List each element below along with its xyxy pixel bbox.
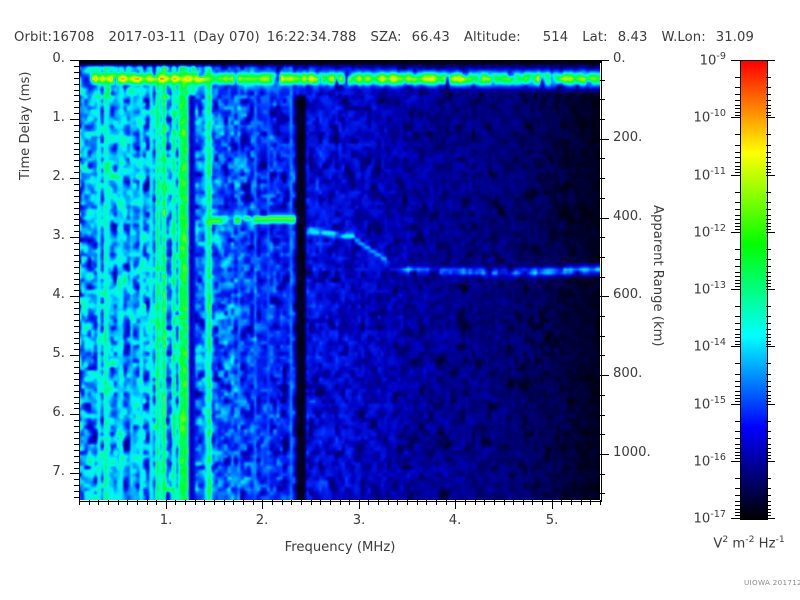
colorbar-minor-tick-right — [766, 323, 771, 324]
colorbar-minor-tick-right — [766, 363, 771, 364]
colorbar-major-tick — [731, 518, 740, 519]
colorbar-minor-tick — [735, 219, 740, 220]
x-minor-tick — [233, 500, 234, 505]
colorbar-minor-tick-right — [766, 334, 771, 335]
colorbar-minor-tick-right — [766, 509, 771, 510]
x-axis-title: Frequency (MHz) — [0, 540, 680, 555]
colorbar-minor-tick — [735, 501, 740, 502]
x-major-tick — [552, 500, 553, 509]
colorbar-minor-tick — [735, 286, 740, 287]
x-minor-tick — [590, 500, 591, 505]
y-right-minor-tick — [600, 415, 605, 416]
y-left-minor-tick — [74, 208, 79, 209]
x-minor-tick — [204, 500, 205, 505]
x-minor-tick — [581, 500, 582, 505]
colorbar-minor-tick — [735, 448, 740, 449]
x-minor-tick — [571, 500, 572, 505]
colorbar-minor-tick-right — [766, 316, 771, 317]
colorbar-tick-label-1: 10-10 — [0, 108, 726, 125]
x-minor-tick — [475, 500, 476, 505]
y-left-minor-tick — [74, 243, 79, 244]
y-left-minor-tick — [74, 196, 79, 197]
colorbar-minor-tick — [735, 452, 740, 453]
y-left-minor-tick — [74, 154, 79, 155]
colorbar-minor-tick — [735, 329, 740, 330]
colorbar-minor-tick — [735, 337, 740, 338]
colorbar-major-tick-right — [766, 60, 775, 61]
colorbar-tick-mantissa-4: 10 — [694, 282, 711, 297]
x-minor-tick — [368, 500, 369, 505]
x-minor-tick — [156, 500, 157, 505]
colorbar-minor-tick — [735, 488, 740, 489]
y-right-tick-label-2: 400. — [613, 209, 642, 224]
colorbar-minor-tick — [735, 386, 740, 387]
colorbar-major-tick-right — [766, 518, 775, 519]
y-left-minor-tick — [74, 444, 79, 445]
y-right-minor-tick — [600, 355, 605, 356]
y-left-minor-tick — [74, 131, 79, 132]
colorbar-unit-label: V2 m-2 Hz-1 — [694, 534, 800, 551]
x-major-tick — [359, 500, 360, 509]
x-minor-tick — [243, 500, 244, 505]
colorbar-minor-tick-right — [766, 209, 771, 210]
colorbar-minor-tick — [735, 374, 740, 375]
header-info-line: Orbit:167082017-03-11(Day 070)16:22:34.7… — [14, 30, 794, 48]
colorbar-minor-tick-right — [766, 398, 771, 399]
x-minor-tick — [388, 500, 389, 505]
colorbar-minor-tick — [735, 215, 740, 216]
colorbar-minor-tick — [735, 134, 740, 135]
colorbar-tick-mantissa-2: 10 — [694, 168, 711, 183]
colorbar-minor-tick — [735, 108, 740, 109]
colorbar-minor-tick-right — [766, 431, 771, 432]
y-right-minor-tick — [600, 198, 605, 199]
colorbar-minor-tick-right — [766, 444, 771, 445]
colorbar-minor-tick — [735, 162, 740, 163]
colorbar-major-tick — [731, 232, 740, 233]
colorbar-major-tick-right — [766, 289, 775, 290]
colorbar-minor-tick — [735, 458, 740, 459]
y-left-minor-tick — [74, 149, 79, 150]
colorbar-minor-tick — [735, 306, 740, 307]
y-right-minor-tick — [600, 434, 605, 435]
colorbar-minor-tick-right — [766, 249, 771, 250]
x-minor-tick — [272, 500, 273, 505]
colorbar-tick-exponent-7: -16 — [710, 452, 726, 463]
colorbar-minor-tick-right — [766, 286, 771, 287]
colorbar-major-tick-right — [766, 232, 775, 233]
x-minor-tick — [79, 500, 80, 505]
x-minor-tick — [349, 500, 350, 505]
x-major-tick — [455, 500, 456, 509]
x-minor-tick — [137, 500, 138, 505]
colorbar-minor-tick-right — [766, 157, 771, 158]
y-left-minor-tick — [74, 255, 79, 256]
colorbar-minor-tick — [735, 100, 740, 101]
colorbar-minor-tick-right — [766, 478, 771, 479]
colorbar-tick-mantissa-5: 10 — [694, 339, 711, 354]
colorbar-minor-tick-right — [766, 77, 771, 78]
colorbar-minor-tick — [735, 509, 740, 510]
colorbar-minor-tick — [735, 444, 740, 445]
y-right-minor-tick — [600, 257, 605, 258]
institution-credit: UIOWA 20171221 — [744, 578, 800, 587]
colorbar-major-tick-right — [766, 117, 775, 118]
y-left-minor-tick — [74, 367, 79, 368]
colorbar-minor-tick-right — [766, 266, 771, 267]
x-minor-tick — [494, 500, 495, 505]
colorbar-minor-tick-right — [766, 94, 771, 95]
x-minor-tick — [378, 500, 379, 505]
colorbar-minor-tick-right — [766, 202, 771, 203]
unit-m: m — [732, 536, 745, 551]
colorbar-minor-tick-right — [766, 172, 771, 173]
x-minor-tick — [175, 500, 176, 505]
y-left-major-tick — [70, 414, 79, 415]
colorbar-tick-exponent-6: -15 — [710, 395, 726, 406]
colorbar-minor-tick — [735, 169, 740, 170]
colorbar-major-tick — [731, 60, 740, 61]
colorbar-minor-tick — [735, 398, 740, 399]
colorbar-tick-label-6: 10-15 — [0, 395, 726, 412]
colorbar — [740, 60, 768, 520]
x-minor-tick — [436, 500, 437, 505]
colorbar-tick-mantissa-8: 10 — [694, 511, 711, 526]
colorbar-major-tick — [731, 289, 740, 290]
x-minor-tick — [282, 500, 283, 505]
colorbar-minor-tick-right — [766, 105, 771, 106]
colorbar-minor-tick-right — [766, 192, 771, 193]
y-left-minor-tick — [74, 391, 79, 392]
colorbar-minor-tick — [735, 341, 740, 342]
colorbar-minor-tick — [735, 209, 740, 210]
y-left-minor-tick — [74, 420, 79, 421]
y-left-minor-tick — [74, 101, 79, 102]
y-left-major-tick — [70, 473, 79, 474]
colorbar-minor-tick — [735, 455, 740, 456]
colorbar-minor-tick — [735, 421, 740, 422]
x-minor-tick — [561, 500, 562, 505]
x-minor-tick — [98, 500, 99, 505]
y-right-major-tick — [600, 375, 609, 376]
unit-hz-exponent: -1 — [776, 534, 785, 545]
y-left-minor-tick — [74, 426, 79, 427]
colorbar-minor-tick-right — [766, 341, 771, 342]
time-value: 16:22:34.788 — [267, 30, 357, 45]
x-minor-tick — [426, 500, 427, 505]
colorbar-minor-tick-right — [766, 283, 771, 284]
colorbar-major-tick — [731, 346, 740, 347]
colorbar-minor-tick — [735, 202, 740, 203]
colorbar-minor-tick-right — [766, 505, 771, 506]
colorbar-minor-tick — [735, 266, 740, 267]
colorbar-minor-tick — [735, 87, 740, 88]
colorbar-minor-tick-right — [766, 108, 771, 109]
x-minor-tick — [504, 500, 505, 505]
y-left-minor-tick — [74, 314, 79, 315]
y-left-minor-tick — [74, 90, 79, 91]
colorbar-major-tick — [731, 404, 740, 405]
colorbar-minor-tick-right — [766, 223, 771, 224]
colorbar-minor-tick-right — [766, 438, 771, 439]
wlon-value: 31.09 — [716, 30, 754, 45]
colorbar-minor-tick-right — [766, 162, 771, 163]
x-minor-tick — [147, 500, 148, 505]
x-minor-tick — [513, 500, 514, 505]
y-right-minor-tick — [600, 80, 605, 81]
colorbar-minor-tick-right — [766, 401, 771, 402]
colorbar-minor-tick-right — [766, 421, 771, 422]
colorbar-major-tick — [731, 117, 740, 118]
colorbar-minor-tick-right — [766, 515, 771, 516]
x-minor-tick — [291, 500, 292, 505]
y-left-minor-tick — [74, 249, 79, 250]
colorbar-minor-tick-right — [766, 455, 771, 456]
colorbar-tick-mantissa-1: 10 — [694, 110, 711, 125]
colorbar-minor-tick — [735, 280, 740, 281]
colorbar-major-tick-right — [766, 404, 775, 405]
colorbar-minor-tick — [735, 223, 740, 224]
colorbar-minor-tick — [735, 226, 740, 227]
colorbar-minor-tick — [735, 381, 740, 382]
y-left-minor-tick — [74, 72, 79, 73]
sza-value: 66.43 — [412, 30, 450, 45]
colorbar-minor-tick-right — [766, 495, 771, 496]
colorbar-minor-tick — [735, 438, 740, 439]
colorbar-minor-tick — [735, 512, 740, 513]
x-minor-tick — [301, 500, 302, 505]
x-minor-tick — [214, 500, 215, 505]
y-left-minor-tick — [74, 302, 79, 303]
day-of-year-value: (Day 070) — [193, 30, 260, 45]
y-right-major-tick — [600, 139, 609, 140]
altitude-value: 514 — [543, 30, 568, 45]
y-left-minor-tick — [74, 214, 79, 215]
colorbar-minor-tick — [735, 115, 740, 116]
colorbar-minor-tick — [735, 344, 740, 345]
colorbar-minor-tick-right — [766, 337, 771, 338]
colorbar-minor-tick-right — [766, 306, 771, 307]
y-left-minor-tick — [74, 95, 79, 96]
colorbar-minor-tick-right — [766, 259, 771, 260]
colorbar-minor-tick — [735, 105, 740, 106]
x-minor-tick — [224, 500, 225, 505]
y-left-minor-tick — [74, 308, 79, 309]
y-right-minor-tick — [600, 99, 605, 100]
x-major-tick — [166, 500, 167, 509]
y-left-minor-tick — [74, 137, 79, 138]
colorbar-minor-tick-right — [766, 452, 771, 453]
colorbar-minor-tick — [735, 323, 740, 324]
colorbar-minor-tick-right — [766, 501, 771, 502]
colorbar-minor-tick-right — [766, 152, 771, 153]
colorbar-tick-exponent-3: -12 — [710, 223, 726, 234]
x-minor-tick — [523, 500, 524, 505]
colorbar-minor-tick — [735, 276, 740, 277]
colorbar-minor-tick-right — [766, 381, 771, 382]
y-left-minor-tick — [74, 438, 79, 439]
unit-v-exponent: 2 — [722, 534, 728, 545]
colorbar-major-tick-right — [766, 175, 775, 176]
y-right-minor-tick — [600, 474, 605, 475]
y-left-minor-tick — [74, 160, 79, 161]
x-minor-tick — [311, 500, 312, 505]
lat-label: Lat: — [582, 30, 607, 45]
colorbar-minor-tick-right — [766, 112, 771, 113]
colorbar-minor-tick — [735, 192, 740, 193]
unit-v: V — [713, 536, 722, 551]
colorbar-minor-tick-right — [766, 169, 771, 170]
colorbar-minor-tick — [735, 157, 740, 158]
colorbar-minor-tick — [735, 229, 740, 230]
x-minor-tick — [600, 500, 601, 505]
colorbar-minor-tick-right — [766, 386, 771, 387]
y-right-major-tick — [600, 218, 609, 219]
y-left-minor-tick — [74, 497, 79, 498]
unit-hz: Hz — [759, 536, 776, 551]
colorbar-tick-label-8: 10-17 — [0, 509, 726, 526]
y-left-major-tick — [70, 355, 79, 356]
x-minor-tick — [195, 500, 196, 505]
x-minor-tick — [253, 500, 254, 505]
colorbar-tick-exponent-4: -13 — [710, 280, 726, 291]
y-left-minor-tick — [74, 267, 79, 268]
colorbar-minor-tick — [735, 249, 740, 250]
colorbar-tick-mantissa-3: 10 — [694, 225, 711, 240]
colorbar-tick-label-3: 10-12 — [0, 223, 726, 240]
colorbar-minor-tick — [735, 395, 740, 396]
colorbar-minor-tick-right — [766, 87, 771, 88]
colorbar-minor-tick — [735, 259, 740, 260]
colorbar-minor-tick-right — [766, 215, 771, 216]
y-right-minor-tick — [600, 277, 605, 278]
x-minor-tick — [118, 500, 119, 505]
colorbar-minor-tick — [735, 495, 740, 496]
unit-m-exponent: -2 — [745, 534, 754, 545]
colorbar-minor-tick-right — [766, 458, 771, 459]
colorbar-tick-mantissa-6: 10 — [694, 397, 711, 412]
x-minor-tick — [89, 500, 90, 505]
y-left-minor-tick — [74, 320, 79, 321]
y-left-minor-tick — [74, 432, 79, 433]
colorbar-tick-label-0: 10-9 — [0, 51, 726, 68]
y-left-minor-tick — [74, 450, 79, 451]
colorbar-minor-tick — [735, 334, 740, 335]
y-left-minor-tick — [74, 485, 79, 486]
y-right-minor-tick — [600, 158, 605, 159]
colorbar-minor-tick-right — [766, 145, 771, 146]
colorbar-minor-tick — [735, 515, 740, 516]
colorbar-minor-tick — [735, 431, 740, 432]
y-left-minor-tick — [74, 491, 79, 492]
colorbar-gradient — [741, 61, 767, 519]
colorbar-minor-tick-right — [766, 272, 771, 273]
colorbar-minor-tick-right — [766, 226, 771, 227]
colorbar-minor-tick — [735, 94, 740, 95]
x-minor-tick — [532, 500, 533, 505]
y-right-minor-tick — [600, 493, 605, 494]
colorbar-minor-tick-right — [766, 448, 771, 449]
colorbar-minor-tick — [735, 77, 740, 78]
orbit-value: 16708 — [52, 30, 94, 45]
y-left-minor-tick — [74, 479, 79, 480]
x-minor-tick — [397, 500, 398, 505]
colorbar-minor-tick — [735, 145, 740, 146]
colorbar-minor-tick — [735, 283, 740, 284]
y-left-minor-tick — [74, 361, 79, 362]
x-minor-tick — [320, 500, 321, 505]
colorbar-minor-tick-right — [766, 280, 771, 281]
colorbar-tick-exponent-0: -9 — [716, 51, 726, 62]
y-left-minor-tick — [74, 326, 79, 327]
y-left-minor-tick — [74, 373, 79, 374]
colorbar-minor-tick — [735, 316, 740, 317]
colorbar-tick-exponent-2: -11 — [710, 166, 726, 177]
x-minor-tick — [417, 500, 418, 505]
colorbar-minor-tick — [735, 152, 740, 153]
y-left-minor-tick — [74, 273, 79, 274]
colorbar-minor-tick — [735, 478, 740, 479]
colorbar-minor-tick-right — [766, 344, 771, 345]
y-left-minor-tick — [74, 202, 79, 203]
altitude-label: Altitude: — [464, 30, 521, 45]
colorbar-tick-label-4: 10-13 — [0, 280, 726, 297]
orbit-label: Orbit: — [14, 30, 52, 45]
date-value: 2017-03-11 — [109, 30, 187, 45]
colorbar-minor-tick — [735, 112, 740, 113]
y-left-minor-tick — [74, 184, 79, 185]
colorbar-minor-tick — [735, 363, 740, 364]
colorbar-tick-label-2: 10-11 — [0, 166, 726, 183]
colorbar-minor-tick-right — [766, 276, 771, 277]
colorbar-tick-exponent-5: -14 — [710, 337, 726, 348]
wlon-label: W.Lon: — [661, 30, 705, 45]
y-right-minor-tick — [600, 316, 605, 317]
colorbar-minor-tick — [735, 505, 740, 506]
x-minor-tick — [465, 500, 466, 505]
y-left-minor-tick — [74, 332, 79, 333]
y-left-minor-tick — [74, 379, 79, 380]
colorbar-tick-exponent-8: -17 — [710, 509, 726, 520]
x-major-tick — [262, 500, 263, 509]
colorbar-tick-label-5: 10-14 — [0, 337, 726, 354]
x-minor-tick — [446, 500, 447, 505]
colorbar-minor-tick-right — [766, 134, 771, 135]
colorbar-minor-tick-right — [766, 115, 771, 116]
colorbar-minor-tick — [735, 272, 740, 273]
colorbar-major-tick — [731, 461, 740, 462]
colorbar-major-tick-right — [766, 346, 775, 347]
x-minor-tick — [108, 500, 109, 505]
x-minor-tick — [484, 500, 485, 505]
y-left-minor-tick — [74, 219, 79, 220]
y-left-minor-tick — [74, 261, 79, 262]
colorbar-minor-tick-right — [766, 391, 771, 392]
x-minor-tick — [542, 500, 543, 505]
colorbar-tick-mantissa-7: 10 — [694, 454, 711, 469]
sza-label: SZA: — [371, 30, 402, 45]
x-minor-tick — [330, 500, 331, 505]
colorbar-tick-exponent-1: -10 — [710, 108, 726, 119]
x-minor-tick — [340, 500, 341, 505]
colorbar-minor-tick-right — [766, 219, 771, 220]
colorbar-major-tick — [731, 175, 740, 176]
colorbar-tick-label-7: 10-16 — [0, 452, 726, 469]
y-right-tick-label-1: 200. — [613, 130, 642, 145]
y-right-tick-label-4: 800. — [613, 366, 642, 381]
x-minor-tick — [185, 500, 186, 505]
x-minor-tick — [127, 500, 128, 505]
